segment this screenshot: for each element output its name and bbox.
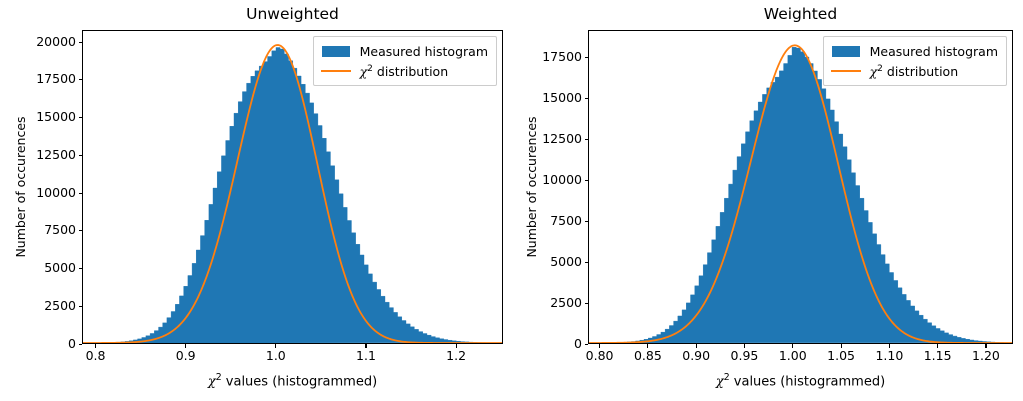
y-tick-mark (585, 98, 589, 99)
legend-label-curve: χ2 distribution (870, 62, 959, 79)
legend-label-curve: χ2 distribution (360, 62, 449, 79)
x-tick-mark (95, 344, 96, 348)
y-tick-mark (79, 230, 83, 231)
x-axis-label-weighted: χ2 values (histogrammed) (588, 369, 1013, 391)
y-tick-mark (79, 79, 83, 80)
legend-label-histogram: Measured histogram (870, 44, 998, 59)
x-tick-label: 1.10 (875, 349, 903, 362)
legend-swatch-histogram (831, 42, 861, 61)
y-tick-label: 0 (2, 338, 76, 350)
x-axis-label-text: values (histogrammed) (730, 374, 886, 389)
legend-weighted: Measured histogram χ2 distribution (823, 36, 1007, 86)
legend-entry-chi2-distribution: χ2 distribution (321, 61, 488, 80)
panel-title-weighted: Weighted (588, 4, 1013, 24)
legend-entry-chi2-distribution: χ2 distribution (831, 61, 998, 80)
panel-title-unweighted: Unweighted (82, 4, 503, 24)
x-axis-label-text: values (histogrammed) (222, 374, 378, 389)
y-axis-label-weighted: Number of occurences (525, 116, 539, 257)
x-tick-label: 0.80 (586, 349, 614, 362)
y-tick-label: 17500 (513, 51, 582, 63)
x-tick-mark (744, 344, 745, 348)
x-tick-mark (792, 344, 793, 348)
y-tick-mark (585, 139, 589, 140)
x-tick-mark (185, 344, 186, 348)
x-tick-label: 0.95 (731, 349, 759, 362)
y-tick-mark (79, 155, 83, 156)
y-axis-label-unweighted: Number of occurences (14, 116, 28, 257)
legend-entry-measured-histogram: Measured histogram (831, 42, 998, 61)
x-tick-mark (985, 344, 986, 348)
x-tick-mark (275, 344, 276, 348)
y-tick-label: 17500 (2, 73, 76, 85)
panel-weighted: Weighted 0250050007500100001250015000175… (511, 0, 1023, 401)
x-tick-label: 0.8 (86, 349, 106, 362)
legend-unweighted: Measured histogram χ2 distribution (313, 36, 497, 86)
y-tick-mark (585, 344, 589, 345)
y-tick-label: 2500 (2, 300, 76, 312)
x-tick-label: 0.85 (634, 349, 662, 362)
x-tick-mark (937, 344, 938, 348)
y-tick-label: 5000 (2, 262, 76, 274)
x-tick-label: 1.00 (779, 349, 807, 362)
y-tick-mark (79, 42, 83, 43)
x-tick-label: 0.90 (682, 349, 710, 362)
y-tick-label: 15000 (513, 92, 582, 104)
x-tick-mark (456, 344, 457, 348)
y-tick-mark (585, 221, 589, 222)
x-tick-label: 1.05 (827, 349, 855, 362)
legend-label-histogram: Measured histogram (360, 44, 488, 59)
x-tick-mark (647, 344, 648, 348)
histogram-bars (83, 48, 502, 343)
x-tick-label: 1.15 (924, 349, 952, 362)
legend-entry-measured-histogram: Measured histogram (321, 42, 488, 61)
x-tick-mark (599, 344, 600, 348)
chi-symbol: χ (716, 374, 724, 389)
y-tick-mark (585, 57, 589, 58)
y-tick-mark (79, 193, 83, 194)
x-tick-label: 0.9 (176, 349, 196, 362)
x-tick-mark (696, 344, 697, 348)
chi-symbol: χ (208, 374, 216, 389)
y-tick-mark (79, 117, 83, 118)
x-tick-mark (365, 344, 366, 348)
y-tick-mark (585, 303, 589, 304)
x-tick-label: 1.2 (446, 349, 466, 362)
x-tick-label: 1.1 (356, 349, 376, 362)
x-tick-mark (889, 344, 890, 348)
x-tick-label: 1.20 (972, 349, 1000, 362)
y-tick-label: 0 (513, 338, 582, 350)
legend-swatch-curve (831, 61, 861, 80)
y-tick-mark (585, 262, 589, 263)
y-tick-mark (585, 180, 589, 181)
panel-unweighted: Unweighted 02500500075001000012500150001… (0, 0, 512, 401)
legend-swatch-curve (321, 61, 351, 80)
y-tick-mark (79, 268, 83, 269)
x-tick-label: 1.0 (266, 349, 286, 362)
x-tick-mark (841, 344, 842, 348)
histogram-bars (589, 47, 1012, 343)
legend-swatch-histogram (321, 42, 351, 61)
x-axis-label-unweighted: χ2 values (histogrammed) (82, 369, 503, 391)
y-tick-mark (79, 344, 83, 345)
y-tick-label: 2500 (513, 297, 582, 309)
figure-canvas: Unweighted 02500500075001000012500150001… (0, 0, 1023, 401)
y-tick-label: 20000 (2, 36, 76, 48)
y-tick-mark (79, 306, 83, 307)
